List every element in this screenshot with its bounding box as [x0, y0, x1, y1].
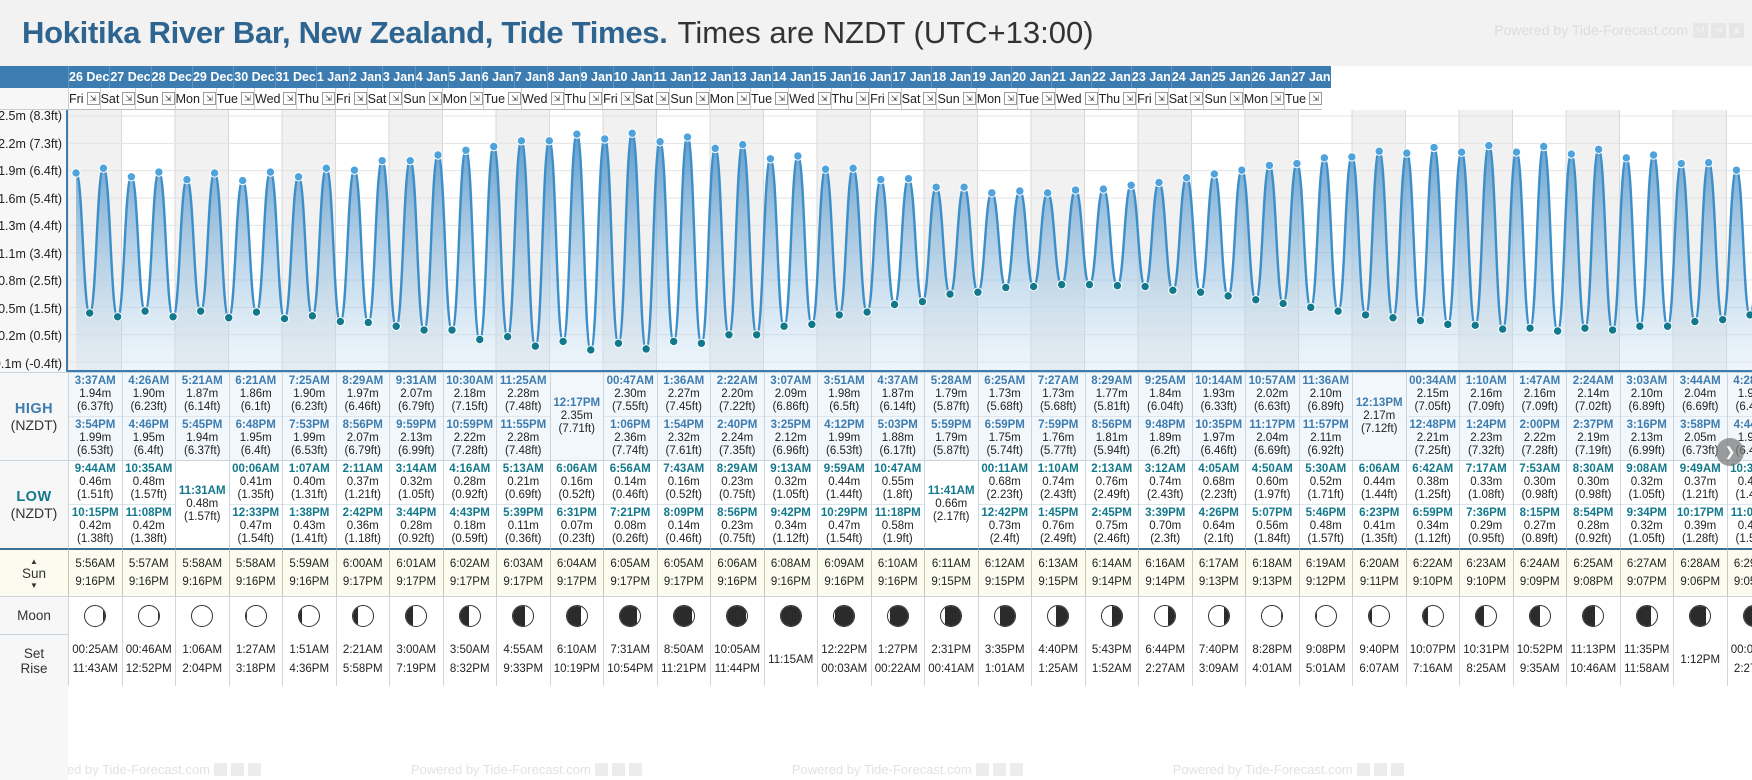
tide-time: 9:42PM: [771, 507, 811, 520]
day-header-cell[interactable]: Fri⇲: [1136, 88, 1168, 110]
tide-entry: 1:10AM2.16m(7.09ft): [1460, 373, 1513, 416]
date-header-cell[interactable]: 16 Jan: [851, 66, 891, 88]
day-header-cell[interactable]: Sat⇲: [1168, 88, 1204, 110]
expand-icon[interactable]: ⇲: [1042, 92, 1055, 105]
high-tide-cell: 2:24AM2.14m(7.02ft)2:37PM2.19m(7.19ft): [1566, 372, 1620, 460]
sun-cell: 5:57AM9:16PM: [122, 548, 176, 596]
date-header-cell[interactable]: 27 Jan: [1291, 66, 1331, 88]
moonset-time: 1:51AM: [289, 641, 329, 660]
day-header-cell[interactable]: Tue⇲: [1017, 88, 1055, 110]
date-header-cell[interactable]: 26 Jan: [1251, 66, 1291, 88]
expand-icon[interactable]: ⇲: [508, 92, 521, 105]
tide-height-m: 1.86m: [240, 388, 272, 401]
tide-time: 7:53AM: [1519, 463, 1560, 476]
tide-time: 6:06AM: [556, 463, 597, 476]
day-header-cell[interactable]: Fri⇲: [602, 88, 634, 110]
tide-entry: 3:07AM2.09m(6.86ft): [765, 373, 818, 416]
tide-time: 5:39PM: [503, 507, 543, 520]
moonrise-time: 8:32PM: [450, 660, 490, 679]
moon-setrise-cell: 1:51AM4:36PM: [282, 634, 336, 686]
day-header-cell[interactable]: Mon⇲: [175, 88, 216, 110]
tide-entry: 3:44PM0.28m(0.92ft): [390, 504, 443, 548]
tide-entry: 6:42AM0.38m(1.25ft): [1407, 461, 1460, 504]
expand-icon[interactable]: ⇲: [818, 92, 831, 105]
date-header-cell[interactable]: 17 Jan: [891, 66, 931, 88]
tide-height-m: 2.18m: [454, 388, 486, 401]
day-of-week-label: Fri: [1137, 92, 1152, 106]
tide-entry: 1:36AM2.27m(7.45ft): [658, 373, 711, 416]
expand-icon[interactable]: ⇲: [389, 92, 402, 105]
tide-entry: 12:42PM0.73m(2.4ft): [979, 504, 1032, 548]
label-date-header-spacer: [0, 66, 68, 88]
date-header-cell[interactable]: 7 Jan: [514, 66, 547, 88]
day-of-week-label: Mon: [176, 92, 200, 106]
page-title: Hokitika River Bar, New Zealand, Tide Ti…: [22, 15, 668, 51]
tide-entry: 6:06AM0.16m(0.52ft): [551, 461, 604, 504]
tide-entry: 3:54PM1.99m(6.53ft): [69, 416, 122, 460]
tide-entry: 11:17PM2.04m(6.69ft): [1246, 416, 1299, 460]
moon-phase-icon: [1047, 605, 1069, 627]
day-header-cell[interactable]: Tue⇲: [483, 88, 521, 110]
low-tide-cell: 8:30AM0.30m(0.98ft)8:54PM0.28m(0.92ft): [1566, 460, 1620, 548]
sunrise-time: 5:59AM: [289, 555, 329, 573]
low-tide-cell: 2:11AM0.37m(1.21ft)2:42PM0.36m(1.18ft): [336, 460, 390, 548]
date-header-cell[interactable]: 25 Jan: [1211, 66, 1251, 88]
day-header-cell[interactable]: Wed⇲: [521, 88, 563, 110]
day-header-cell[interactable]: Thu⇲: [831, 88, 870, 110]
day-header-cell[interactable]: Sat⇲: [367, 88, 403, 110]
tide-time: 4:05AM: [1198, 463, 1239, 476]
tide-time: 1:07AM: [289, 463, 330, 476]
expand-icon[interactable]: ⇲: [551, 92, 564, 105]
tide-entry: 5:13AM0.21m(0.69ft): [497, 461, 550, 504]
day-of-week-label: Tue: [217, 92, 238, 106]
tide-height-ft: (6.53ft): [77, 445, 113, 458]
moon-phase-icon: [405, 605, 427, 627]
expand-icon[interactable]: ⇲: [470, 92, 483, 105]
high-tide-cell: 6:21AM1.86m(6.1ft)6:48PM1.95m(6.4ft): [229, 372, 283, 460]
day-of-week-label: Mon: [1244, 92, 1268, 106]
tide-height-ft: (7.19ft): [1575, 445, 1611, 458]
tide-entry: 2:22AM2.20m(7.22ft): [711, 373, 764, 416]
moonrise-time: 6:07AM: [1359, 660, 1399, 679]
day-header-cell[interactable]: Sun⇲: [669, 88, 708, 110]
tide-entry: 7:25AM1.90m(6.23ft): [283, 373, 336, 416]
expand-icon[interactable]: ⇲: [696, 92, 709, 105]
moon-setrise-cell: 4:55AM9:33PM: [496, 634, 550, 686]
moon-setrise-cell: 1:12PM: [1673, 634, 1727, 686]
tide-time: 8:29AM: [342, 375, 383, 388]
moon-phase-icon: [887, 605, 909, 627]
tide-height-ft: (6.79ft): [345, 445, 381, 458]
tide-height-ft: (0.26ft): [612, 533, 648, 546]
date-header-cell[interactable]: 10 Jan: [613, 66, 653, 88]
tide-time: 5:46PM: [1306, 507, 1346, 520]
expand-icon[interactable]: ⇲: [656, 92, 669, 105]
date-header-cell[interactable]: 8 Jan: [547, 66, 580, 88]
tide-height-m: 0.68m: [1203, 476, 1235, 489]
row-label-moon-text: Moon: [17, 608, 51, 623]
tide-height-ft: (1.05ft): [1629, 533, 1665, 546]
tide-height-ft: (6.37ft): [184, 445, 220, 458]
expand-icon[interactable]: ⇲: [963, 92, 976, 105]
tide-time: 11:57PM: [1303, 419, 1349, 432]
expand-icon[interactable]: ⇲: [1085, 92, 1098, 105]
tide-time: 6:21AM: [235, 375, 276, 388]
tide-height-m: 0.28m: [1577, 520, 1609, 533]
day-of-week-label: Tue: [1285, 92, 1306, 106]
tide-time: 4:44PM: [1734, 419, 1752, 432]
tide-entry: 6:59PM0.34m(1.12ft): [1407, 504, 1460, 548]
tide-time: 3:03AM: [1626, 375, 1667, 388]
moonrise-time: 11:21PM: [661, 660, 706, 679]
tide-height-ft: (6.2ft): [1150, 445, 1180, 458]
tide-height-m: 1.81m: [1096, 432, 1128, 445]
sunset-time: 9:15PM: [1038, 573, 1078, 591]
tide-height-m: 0.34m: [775, 520, 807, 533]
tide-height-m: 2.13m: [400, 432, 432, 445]
tide-height-ft: (0.92ft): [398, 533, 434, 546]
day-header-cell[interactable]: Wed⇲: [254, 88, 296, 110]
low-tide-cell: 6:06AM0.16m(0.52ft)6:31PM0.07m(0.23ft): [550, 460, 604, 548]
tide-time: 10:35PM: [1195, 419, 1242, 432]
expand-icon[interactable]: ⇲: [241, 92, 254, 105]
day-header-cell[interactable]: Wed⇲: [1055, 88, 1097, 110]
tide-time: 2:00PM: [1520, 419, 1560, 432]
tide-height-m: 0.48m: [186, 498, 218, 511]
tide-height-m: 2.16m: [1524, 388, 1556, 401]
tide-height-m: 2.28m: [507, 388, 539, 401]
moon-setrise-cell: 10:05AM11:44PM: [710, 634, 764, 686]
row-label-sun-text: Sun: [22, 566, 46, 581]
tide-grid-wrapper[interactable]: 2.5m (8.3ft)2.2m (7.3ft)1.9m (6.4ft)1.6m…: [0, 66, 1752, 780]
day-header-cell[interactable]: Fri⇲: [335, 88, 367, 110]
date-header-cell[interactable]: 22 Jan: [1091, 66, 1131, 88]
y-axis: 2.5m (8.3ft)2.2m (7.3ft)1.9m (6.4ft)1.6m…: [0, 110, 68, 372]
moon-cell: [817, 596, 871, 634]
moon-setrise-cell: 2:21AM5:58PM: [336, 634, 390, 686]
tide-height-ft: (1.84ft): [1254, 533, 1290, 546]
tide-height-ft: (6.17ft): [880, 445, 916, 458]
day-header-cell[interactable]: Tue⇲: [216, 88, 254, 110]
low-tide-cell: 1:10AM0.74m(2.43ft)1:45PM0.76m(2.49ft): [1031, 460, 1085, 548]
high-tide-cell: 10:14AM1.93m(6.33ft)10:35PM1.97m(6.46ft): [1192, 372, 1246, 460]
tide-entry: 10:29PM0.47m(1.54ft): [818, 504, 871, 548]
tide-height-m: 0.64m: [1203, 520, 1235, 533]
sun-row: 5:56AM9:16PM5:57AM9:16PM5:58AM9:16PM5:58…: [68, 548, 1752, 596]
tide-time: 4:16AM: [449, 463, 490, 476]
moonrise-time: 11:58AM: [1624, 660, 1669, 679]
date-header-cell[interactable]: 21 Jan: [1051, 66, 1091, 88]
tide-height-ft: (7.71ft): [559, 423, 595, 436]
tide-entry: 1:47AM2.16m(7.09ft): [1514, 373, 1567, 416]
expand-icon[interactable]: ⇲: [589, 92, 602, 105]
date-header-cell[interactable]: 29 Dec: [192, 66, 233, 88]
day-of-week-label: Thu: [1099, 92, 1121, 106]
day-header-cell[interactable]: Tue⇲: [750, 88, 788, 110]
date-header-cell[interactable]: 31 Dec: [275, 66, 316, 88]
sun-cell: 6:28AM9:06PM: [1673, 548, 1727, 596]
tide-time: 4:12PM: [824, 419, 864, 432]
moon-cell: [1085, 596, 1139, 634]
row-label-high-title: HIGH: [15, 401, 53, 417]
tide-time: 11:18PM: [875, 507, 921, 520]
tide-height-ft: (7.48ft): [505, 401, 541, 414]
day-header-cell[interactable]: Sun⇲: [135, 88, 174, 110]
tide-height-m: 0.16m: [561, 476, 593, 489]
tide-time: 8:29AM: [1091, 375, 1132, 388]
day-header-cell[interactable]: Sun⇲: [402, 88, 441, 110]
expand-icon[interactable]: ⇲: [87, 92, 100, 105]
tide-entry: 1:45PM0.76m(2.49ft): [1032, 504, 1085, 548]
tide-height-ft: (2.1ft): [1204, 533, 1234, 546]
expand-icon[interactable]: ⇲: [1271, 92, 1284, 105]
date-header-cell[interactable]: 6 Jan: [481, 66, 514, 88]
expand-icon[interactable]: ⇲: [856, 92, 869, 105]
tide-height-m: 2.22m: [454, 432, 486, 445]
moon-cell: [389, 596, 443, 634]
day-of-week-label: Wed: [789, 92, 814, 106]
moon-setrise-cell: 6:10AM10:19PM: [550, 634, 604, 686]
row-label-sun[interactable]: Sun: [0, 548, 68, 596]
tide-entry: 5:28AM1.79m(5.87ft): [925, 373, 978, 416]
day-header-cell[interactable]: Sat⇲: [100, 88, 136, 110]
moon-phase-icon: [138, 605, 160, 627]
sunset-time: 9:10PM: [1413, 573, 1453, 591]
day-header-cell[interactable]: Sun⇲: [936, 88, 975, 110]
tide-height-m: 0.30m: [1577, 476, 1609, 489]
tide-height-m: 0.32m: [1631, 476, 1663, 489]
tide-height-ft: (6.53ft): [826, 445, 862, 458]
tide-entry: 1:54PM2.32m(7.61ft): [658, 416, 711, 460]
day-header-cell[interactable]: Mon⇲: [1243, 88, 1284, 110]
date-header-cell[interactable]: 23 Jan: [1131, 66, 1171, 88]
tide-entry: 6:31PM0.07m(0.23ft): [551, 504, 604, 548]
date-header-cell[interactable]: 11 Jan: [653, 66, 692, 88]
date-header-cell[interactable]: 28 Dec: [151, 66, 192, 88]
moonrise-time: 4:36PM: [289, 660, 329, 679]
tide-time: 6:06AM: [1359, 463, 1400, 476]
date-header-cell[interactable]: 4 Jan: [415, 66, 448, 88]
date-header-cell[interactable]: 5 Jan: [448, 66, 481, 88]
moonrise-time: 10:54PM: [607, 660, 653, 679]
tide-height-ft: (0.23ft): [559, 533, 595, 546]
date-header-cell[interactable]: 18 Jan: [931, 66, 971, 88]
day-header-cell[interactable]: Thu⇲: [564, 88, 603, 110]
expand-icon[interactable]: ⇲: [1230, 92, 1243, 105]
day-header-cell[interactable]: Sun⇲: [1203, 88, 1242, 110]
expand-icon[interactable]: ⇲: [122, 92, 135, 105]
moon-cell: [1352, 596, 1406, 634]
tide-entry: 10:47AM0.55m(1.8ft): [872, 461, 925, 504]
tide-time: 3:44AM: [1680, 375, 1721, 388]
day-header-cell[interactable]: Sat⇲: [634, 88, 670, 110]
sun-cell: 6:20AM9:11PM: [1352, 548, 1406, 596]
tide-time: 11:31AM: [179, 485, 226, 498]
powered-by-label: Powered by Tide-Forecast.com: [1494, 22, 1688, 38]
tide-entry: 3:44AM2.04m(6.69ft): [1674, 373, 1727, 416]
tide-height-ft: (6.46ft): [345, 401, 381, 414]
tide-time: 11:08PM: [126, 507, 172, 520]
sunrise-time: 6:02AM: [450, 555, 490, 573]
tide-time: 9:59PM: [396, 419, 436, 432]
y-axis-tick: 0.8m (2.5ft): [0, 274, 62, 288]
day-header-cell[interactable]: Thu⇲: [1098, 88, 1137, 110]
tide-time: 8:30AM: [1573, 463, 1614, 476]
sun-cell: 6:13AM9:15PM: [1031, 548, 1085, 596]
date-header-cell[interactable]: 9 Jan: [580, 66, 613, 88]
expand-icon[interactable]: ⇲: [354, 92, 367, 105]
day-header-cell[interactable]: Mon⇲: [976, 88, 1017, 110]
day-of-week-label: Sat: [368, 92, 387, 106]
tide-height-m: 2.28m: [507, 432, 539, 445]
tide-height-ft: (6.33ft): [1201, 401, 1237, 414]
sun-cell: 6:16AM9:14PM: [1138, 548, 1192, 596]
expand-icon[interactable]: ⇲: [923, 92, 936, 105]
sunset-time: 9:17PM: [610, 573, 650, 591]
high-tide-cell: 3:03AM2.10m(6.89ft)3:16PM2.13m(6.99ft): [1620, 372, 1674, 460]
moonrise-time: 3:18PM: [236, 660, 276, 679]
tide-height-m: 0.37m: [347, 476, 379, 489]
sunset-time: 9:16PM: [717, 573, 757, 591]
sun-cell: 6:03AM9:17PM: [496, 548, 550, 596]
tide-entry: 8:56PM2.07m(6.79ft): [337, 416, 390, 460]
sun-cell: 6:04AM9:17PM: [550, 548, 604, 596]
day-of-week-label: Fri: [870, 92, 885, 106]
tide-height-m: 0.39m: [1684, 520, 1716, 533]
tide-entry: 5:03PM1.88m(6.17ft): [872, 416, 925, 460]
date-header-cell[interactable]: 26 Dec: [68, 66, 109, 88]
tide-entry: 8:30AM0.30m(0.98ft): [1567, 461, 1620, 504]
day-header-cell[interactable]: Wed⇲: [788, 88, 830, 110]
expand-icon[interactable]: ⇲: [1123, 92, 1136, 105]
day-header-cell[interactable]: Mon⇲: [442, 88, 483, 110]
tide-entry: 4:43PM0.18m(0.59ft): [444, 504, 497, 548]
day-header-cell[interactable]: Tue⇲: [1284, 88, 1322, 110]
tide-height-m: 1.88m: [882, 432, 914, 445]
tide-entry: 3:12AM0.74m(2.43ft): [1139, 461, 1192, 504]
date-header-cell[interactable]: 2 Jan: [349, 66, 382, 88]
expand-icon[interactable]: ⇲: [1155, 92, 1168, 105]
day-header-cell[interactable]: Thu⇲: [296, 88, 335, 110]
tide-entry: 8:29AM1.77m(5.81ft): [1086, 373, 1139, 416]
tide-height-ft: (6.92ft): [1308, 445, 1344, 458]
expand-icon[interactable]: ⇲: [888, 92, 901, 105]
moonrise-time: 2:27AM: [1145, 660, 1185, 679]
expand-icon[interactable]: ⇲: [1190, 92, 1203, 105]
row-label-moon: Moon: [0, 596, 68, 634]
expand-icon[interactable]: ⇲: [775, 92, 788, 105]
tide-height-ft: (6.14ft): [184, 401, 220, 414]
expand-icon[interactable]: ⇲: [203, 92, 216, 105]
expand-icon[interactable]: ⇲: [1309, 92, 1322, 105]
date-header-cell[interactable]: 1 Jan: [316, 66, 349, 88]
date-header-cell[interactable]: 12 Jan: [692, 66, 732, 88]
date-header-cell[interactable]: 3 Jan: [382, 66, 415, 88]
tide-height-ft: (1.35ft): [1361, 533, 1397, 546]
tide-entry: 5:59PM1.79m(5.87ft): [925, 416, 978, 460]
tide-entry: 7:36PM0.29m(0.95ft): [1460, 504, 1513, 548]
day-header-cell[interactable]: Mon⇲: [709, 88, 750, 110]
tide-height-ft: (5.87ft): [933, 401, 969, 414]
row-label-high-tz: (NZDT): [11, 417, 58, 433]
moonset-time: 3:50AM: [450, 641, 490, 660]
low-tide-cell: 5:30AM0.52m(1.71ft)5:46PM0.48m(1.57ft): [1299, 460, 1353, 548]
tide-time: 10:17PM: [1677, 507, 1724, 520]
tide-time: 6:42AM: [1412, 463, 1453, 476]
day-header-cell[interactable]: Fri⇲: [869, 88, 901, 110]
date-header-cell[interactable]: 27 Dec: [109, 66, 150, 88]
tide-height-m: 0.47m: [1738, 520, 1752, 533]
moonrise-time: 9:33PM: [503, 660, 543, 679]
expand-icon[interactable]: ⇲: [621, 92, 634, 105]
tide-height-ft: (6.69ft): [1682, 401, 1718, 414]
tide-time: 6:25AM: [984, 375, 1025, 388]
badge-icon-1: M: [1693, 23, 1708, 38]
low-tide-cell: 9:44AM0.46m(1.51ft)10:15PM0.42m(1.38ft): [68, 460, 122, 548]
moon-phase-icon: [726, 605, 748, 627]
moonset-time: 8:50AM: [664, 641, 704, 660]
tide-height-ft: (2.23ft): [1201, 489, 1237, 502]
expand-icon[interactable]: ⇲: [162, 92, 175, 105]
tide-time: 5:28AM: [931, 375, 972, 388]
tide-entry: 10:59PM2.22m(7.28ft): [444, 416, 497, 460]
date-header-cell[interactable]: 30 Dec: [233, 66, 274, 88]
expand-icon[interactable]: ⇲: [737, 92, 750, 105]
tide-height-ft: (6.23ft): [131, 401, 167, 414]
tide-entry: 11:08PM0.42m(1.38ft): [123, 504, 176, 548]
tide-height-m: 0.75m: [1096, 520, 1128, 533]
day-header-cell[interactable]: Fri⇲: [68, 88, 100, 110]
date-header-cell[interactable]: 24 Jan: [1171, 66, 1211, 88]
expand-icon[interactable]: ⇲: [1004, 92, 1017, 105]
tide-height-ft: (5.81ft): [1094, 401, 1130, 414]
tide-height-ft: (6.99ft): [1629, 445, 1665, 458]
tide-entry: 5:45PM1.94m(6.37ft): [176, 416, 229, 460]
moon-setrise-cell: 7:40PM3:09AM: [1192, 634, 1246, 686]
tide-height-m: 0.55m: [882, 476, 914, 489]
tide-height-ft: (7.25ft): [1415, 445, 1451, 458]
tide-time: 10:57AM: [1249, 375, 1296, 388]
day-header-cell[interactable]: Sat⇲: [901, 88, 937, 110]
tide-time: 12:42PM: [981, 507, 1028, 520]
tide-entry: 5:30AM0.52m(1.71ft): [1300, 461, 1353, 504]
tide-height-ft: (1.12ft): [1415, 533, 1451, 546]
tide-height-ft: (6.99ft): [398, 445, 434, 458]
moon-setrise-cell: 00:46AM12:52PM: [122, 634, 176, 686]
tide-entry: 9:25AM1.84m(6.04ft): [1139, 373, 1192, 416]
tide-height-m: 0.07m: [561, 520, 593, 533]
date-header-cell[interactable]: 14 Jan: [772, 66, 812, 88]
tide-time: 10:47AM: [874, 463, 921, 476]
scroll-right-handle[interactable]: ❯: [1716, 438, 1744, 466]
moon-cell: [496, 596, 550, 634]
date-header-cell[interactable]: 20 Jan: [1011, 66, 1051, 88]
moon-cell: [1406, 596, 1460, 634]
sun-cell: 6:12AM9:15PM: [978, 548, 1032, 596]
date-header-cell[interactable]: 15 Jan: [812, 66, 852, 88]
date-header-cell[interactable]: 13 Jan: [732, 66, 772, 88]
tide-height-ft: (6.04ft): [1147, 401, 1183, 414]
moonset-time: 00:25AM: [72, 641, 118, 660]
expand-icon[interactable]: ⇲: [322, 92, 335, 105]
day-of-week-label: Sun: [670, 92, 692, 106]
expand-icon[interactable]: ⇲: [429, 92, 442, 105]
expand-icon[interactable]: ⇲: [283, 92, 296, 105]
tide-height-m: 0.44m: [828, 476, 860, 489]
date-header-cell[interactable]: 19 Jan: [971, 66, 1011, 88]
day-of-week-label: Sun: [136, 92, 158, 106]
